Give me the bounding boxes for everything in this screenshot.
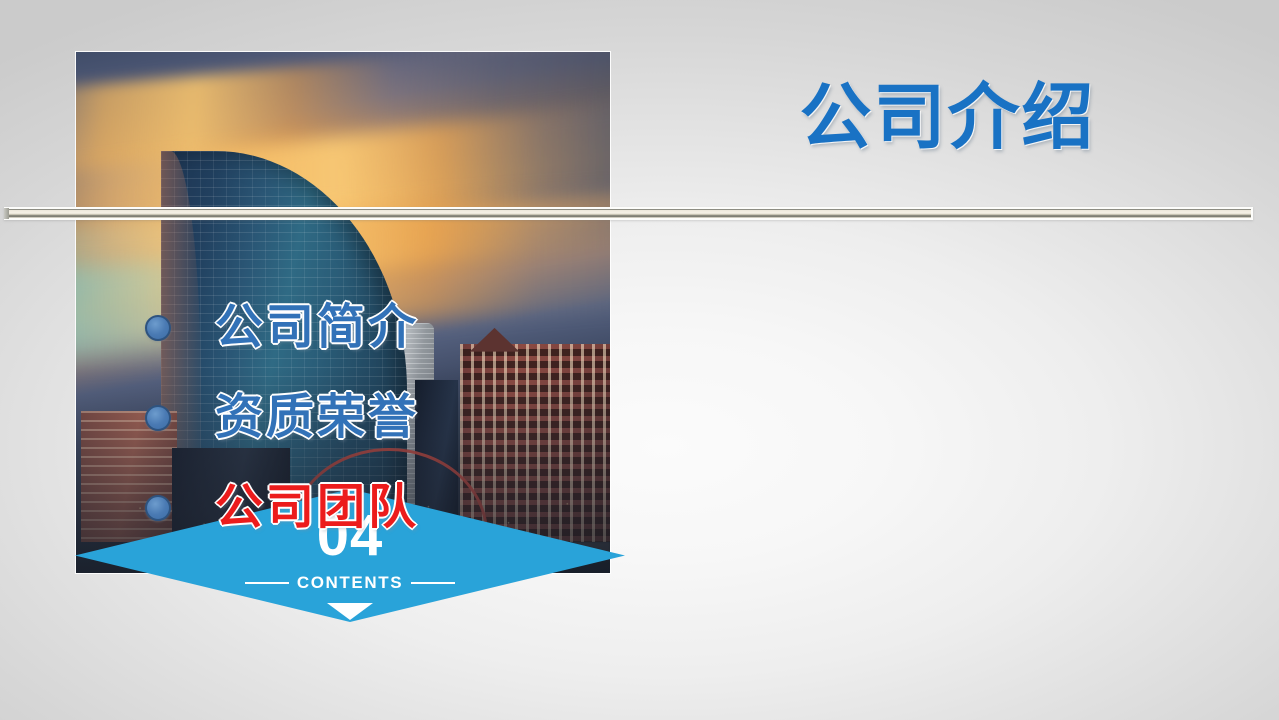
list-item[interactable]: 公司简介 [145, 283, 625, 373]
list-item-label: 公司简介 [215, 304, 419, 352]
agenda-list: 公司简介 资质荣誉 公司团队 [145, 283, 625, 553]
bullet-dot-icon [145, 405, 171, 431]
bullet-dot-icon [145, 495, 171, 521]
divider-band [6, 209, 1251, 218]
section-divider [4, 207, 1253, 220]
list-item[interactable]: 资质荣誉 [145, 373, 625, 463]
list-item-label: 资质荣誉 [215, 394, 419, 442]
right-column: 公司介绍 [640, 0, 1279, 720]
bullet-dot-icon [145, 315, 171, 341]
divider-left-cap [4, 208, 9, 219]
list-item[interactable]: 公司团队 [145, 463, 625, 553]
list-item-label: 公司团队 [215, 484, 419, 532]
presentation-slide: 04 CONTENTS 公司介绍 公司简介 资质荣誉 公司团队 [0, 0, 1279, 720]
page-title: 公司介绍 [640, 82, 1255, 154]
